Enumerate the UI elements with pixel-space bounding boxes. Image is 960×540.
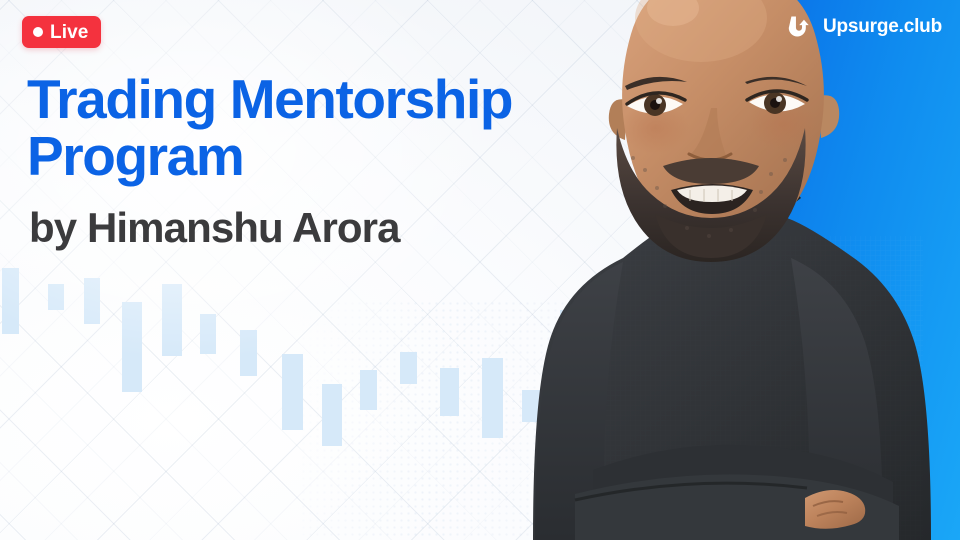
- page-subtitle: by Himanshu Arora: [29, 205, 400, 251]
- banner-canvas: Live Trading Mentorship Program by Himan…: [0, 0, 960, 540]
- page-title-line-1: Trading Mentorship: [27, 68, 512, 130]
- brand-lockup[interactable]: Upsurge.club: [787, 13, 942, 40]
- upsurge-u-arrow-icon: [787, 13, 814, 40]
- presenter-photo: [505, 0, 960, 540]
- live-dot-icon: [33, 27, 43, 37]
- live-badge: Live: [22, 16, 101, 48]
- live-badge-label: Live: [50, 23, 88, 42]
- brand-name: Upsurge.club: [823, 17, 942, 36]
